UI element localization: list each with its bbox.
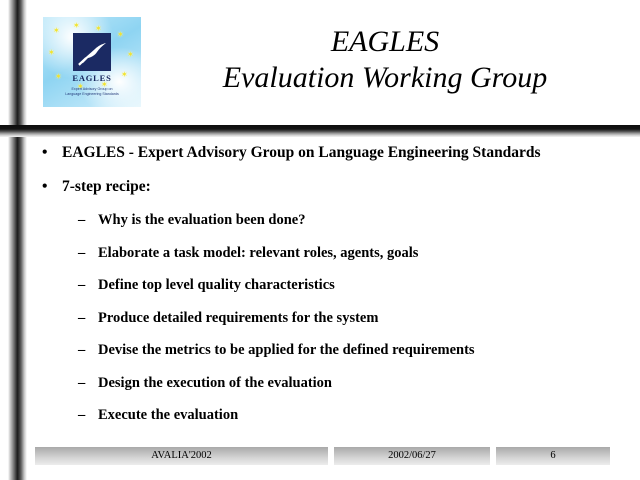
bullet-marker-icon: • <box>42 177 47 196</box>
dash-marker-icon: – <box>78 406 85 424</box>
header-horizontal-rule <box>0 125 640 137</box>
bullet-marker-icon: • <box>42 143 47 162</box>
footer-page-number: 6 <box>496 447 610 465</box>
list-item-text: Why is the evaluation been done? <box>98 212 305 228</box>
bullet-item: • 7-step recipe: <box>36 177 626 196</box>
star-icon: ✶ <box>53 27 60 35</box>
list-item: – Define top level quality characteristi… <box>36 276 626 294</box>
dash-marker-icon: – <box>78 309 85 327</box>
slide-title: EAGLES Evaluation Working Group <box>150 24 620 96</box>
dash-marker-icon: – <box>78 374 85 392</box>
slide-body: • EAGLES - Expert Advisory Group on Lang… <box>36 143 626 439</box>
list-item-text: Elaborate a task model: relevant roles, … <box>98 245 418 261</box>
logo-wordmark: EAGLES <box>43 73 141 83</box>
list-item: – Execute the evaluation <box>36 406 626 424</box>
steps-list: – Why is the evaluation been done? – Ela… <box>36 211 626 424</box>
dash-marker-icon: – <box>78 341 85 359</box>
list-item: – Devise the metrics to be applied for t… <box>36 341 626 359</box>
dash-marker-icon: – <box>78 276 85 294</box>
list-item: – Elaborate a task model: relevant roles… <box>36 244 626 262</box>
list-item-text: Design the execution of the evaluation <box>98 375 332 391</box>
bullet-text: EAGLES - Expert Advisory Group on Langua… <box>62 144 541 161</box>
star-icon: ✶ <box>73 22 80 30</box>
dash-marker-icon: – <box>78 211 85 229</box>
list-item-text: Execute the evaluation <box>98 407 238 423</box>
star-icon: ✶ <box>48 49 55 57</box>
left-vertical-rule <box>8 0 27 480</box>
list-item: – Produce detailed requirements for the … <box>36 309 626 327</box>
star-icon: ✶ <box>127 51 134 59</box>
presentation-slide: ✶ ✶ ✶ ✶ ✶ ✶ ✶ ✶ ✶ ✶ EAGLES Expert Adviso… <box>0 0 640 480</box>
eagle-emblem <box>73 33 111 71</box>
footer-conference: AVALIA'2002 <box>35 447 328 465</box>
list-item-text: Define top level quality characteristics <box>98 277 335 293</box>
slide-footer: AVALIA'2002 2002/06/27 6 <box>0 447 640 465</box>
list-item-text: Produce detailed requirements for the sy… <box>98 310 378 326</box>
list-item: – Design the execution of the evaluation <box>36 374 626 392</box>
bullet-text: 7-step recipe: <box>62 178 151 195</box>
dash-marker-icon: – <box>78 244 85 262</box>
bullet-item: • EAGLES - Expert Advisory Group on Lang… <box>36 143 626 162</box>
title-line-2: Evaluation Working Group <box>150 60 620 96</box>
star-icon: ✶ <box>117 31 124 39</box>
star-icon: ✶ <box>95 25 102 33</box>
list-item-text: Devise the metrics to be applied for the… <box>98 342 475 358</box>
logo-tagline: Expert Advisory Group on Language Engine… <box>43 87 141 96</box>
list-item: – Why is the evaluation been done? <box>36 211 626 229</box>
eagles-logo: ✶ ✶ ✶ ✶ ✶ ✶ ✶ ✶ ✶ ✶ EAGLES Expert Adviso… <box>43 17 141 107</box>
eagle-bird-icon <box>73 33 111 71</box>
footer-date: 2002/06/27 <box>334 447 490 465</box>
title-line-1: EAGLES <box>150 24 620 60</box>
